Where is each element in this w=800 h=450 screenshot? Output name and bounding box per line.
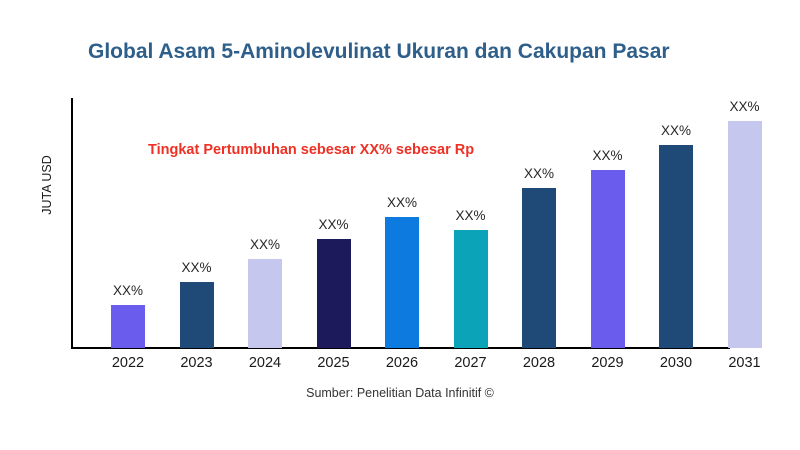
bar-value-label: XX% — [715, 99, 775, 114]
bar-chart: Global Asam 5-Aminolevulinat Ukuran dan … — [0, 0, 800, 450]
bar — [317, 239, 351, 348]
bar-value-label: XX% — [646, 123, 706, 138]
x-axis-tick-label: 2030 — [646, 355, 706, 371]
bar-value-label: XX% — [235, 237, 295, 252]
plot-area: XX%2022XX%2023XX%2024XX%2025XX%2026XX%20… — [0, 0, 800, 450]
bar — [111, 305, 145, 348]
x-axis-tick-label: 2022 — [98, 355, 158, 371]
bar-value-label: XX% — [167, 260, 227, 275]
bar-value-label: XX% — [372, 195, 432, 210]
x-axis-tick-label: 2025 — [304, 355, 364, 371]
x-axis-tick-label: 2029 — [578, 355, 638, 371]
bar — [385, 217, 419, 348]
bar-value-label: XX% — [578, 148, 638, 163]
x-axis-tick-label: 2024 — [235, 355, 295, 371]
bar — [454, 230, 488, 348]
bar-value-label: XX% — [304, 217, 364, 232]
x-axis-tick-label: 2027 — [441, 355, 501, 371]
x-axis-tick-label: 2026 — [372, 355, 432, 371]
x-axis-tick-label: 2028 — [509, 355, 569, 371]
bar — [728, 121, 762, 348]
bar-value-label: XX% — [98, 283, 158, 298]
source-caption: Sumber: Penelitian Data Infinitif © — [0, 386, 800, 400]
x-axis-tick-label: 2031 — [715, 355, 775, 371]
bar — [659, 145, 693, 348]
bar — [248, 259, 282, 348]
bar — [522, 188, 556, 348]
x-axis-tick-label: 2023 — [167, 355, 227, 371]
bar-value-label: XX% — [441, 208, 501, 223]
bar-value-label: XX% — [509, 166, 569, 181]
bar — [591, 170, 625, 348]
bar — [180, 282, 214, 348]
